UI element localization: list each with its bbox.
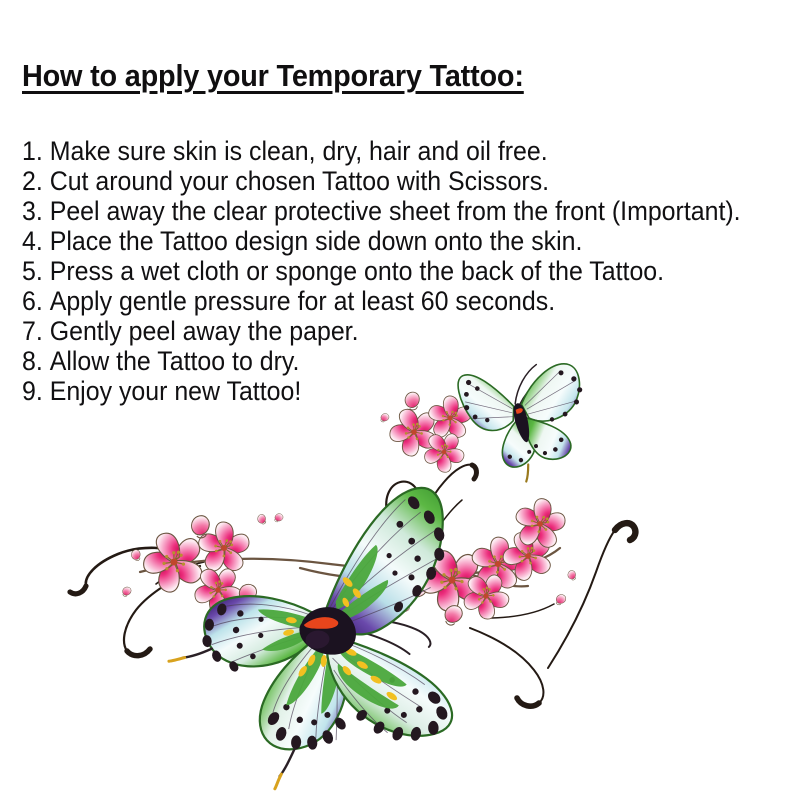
small-butterfly-lower-right-wing: [523, 409, 574, 465]
blossom: [497, 527, 554, 585]
cherry-blossom-branch: [121, 389, 578, 630]
list-item: 1. Make sure skin is clean, dry, hair an…: [22, 136, 746, 166]
tendril-right-tall-hook: [615, 523, 635, 540]
instruction-steps-list: 1. Make sure skin is clean, dry, hair an…: [22, 136, 792, 406]
blossom: [452, 564, 517, 630]
blossom: [135, 526, 206, 600]
blossom: [460, 528, 530, 600]
tendril-center-a: [386, 482, 418, 548]
small-butterfly-body: [511, 402, 533, 444]
blossom-branch-stem: [140, 548, 560, 586]
large-butterfly-upper-right-wing: [315, 486, 455, 638]
flower-bud: [189, 514, 212, 540]
step-number: 9.: [22, 376, 43, 406]
step-number: 1.: [22, 136, 43, 166]
step-number: 5.: [22, 256, 43, 286]
large-butterfly-body: [297, 604, 358, 658]
petal-fragment: [121, 586, 132, 598]
petal-fragment: [554, 593, 567, 607]
tendril-right-tall: [548, 530, 615, 668]
step-text: Allow the Tattoo to dry.: [50, 346, 300, 376]
large-butterfly-lower-left-wing: [252, 635, 359, 790]
tendril-right-mid: [486, 604, 554, 618]
petal-fragment: [256, 513, 269, 526]
list-item: 6. Apply gentle pressure for at least 60…: [22, 286, 746, 316]
list-item: 9. Enjoy your new Tattoo!: [22, 376, 746, 406]
list-item: 8. Allow the Tattoo to dry.: [22, 346, 746, 376]
tendril-left-lower-tip: [127, 649, 150, 656]
step-text: Press a wet cloth or sponge onto the bac…: [50, 256, 664, 286]
list-item: 5. Press a wet cloth or sponge onto the …: [22, 256, 746, 286]
flower-bud: [442, 603, 464, 627]
step-number: 7.: [22, 316, 43, 346]
step-text: Apply gentle pressure for at least 60 se…: [50, 286, 555, 316]
step-text: Gently peel away the paper.: [50, 316, 359, 346]
large-butterfly: [154, 486, 470, 799]
small-butterfly-lower-left-wing: [495, 417, 544, 486]
blossom: [369, 541, 433, 607]
list-item: 3. Peel away the clear protective sheet …: [22, 196, 746, 226]
large-butterfly-upper-left-wing: [163, 589, 321, 680]
list-item: 7. Gently peel away the paper.: [22, 316, 746, 346]
page-title: How to apply your Temporary Tattoo:: [22, 58, 524, 94]
tendril-center-hook: [399, 503, 406, 536]
step-text: Enjoy your new Tattoo!: [50, 376, 302, 406]
tendril-center-c: [420, 500, 462, 560]
list-item: 2. Cut around your chosen Tattoo with Sc…: [22, 166, 746, 196]
tendril-right-lower-tip: [517, 698, 539, 706]
petal-fragment: [273, 512, 285, 524]
blossom: [383, 403, 441, 463]
petal-fragment: [566, 569, 578, 581]
tattoo-instruction-sheet: How to apply your Temporary Tattoo: 1. M…: [0, 0, 800, 800]
large-butterfly-antennae: [335, 608, 431, 661]
step-number: 3.: [22, 196, 43, 226]
step-number: 4.: [22, 226, 43, 256]
step-text: Place the Tattoo design side down onto t…: [50, 226, 583, 256]
tendril-center-b-tip: [472, 465, 476, 479]
flower-bud: [235, 581, 259, 606]
blossom: [410, 541, 488, 621]
step-text: Peel away the clear protective sheet fro…: [50, 196, 741, 226]
decorative-swirls: [70, 465, 635, 707]
step-number: 2.: [22, 166, 43, 196]
tendril-left-lower: [124, 566, 200, 651]
list-item: 4. Place the Tattoo design side down ont…: [22, 226, 746, 256]
tendril-left-upper: [86, 548, 196, 586]
blossom: [414, 425, 470, 482]
petal-fragment: [398, 601, 411, 614]
petal-fragment: [379, 412, 390, 424]
step-text: Make sure skin is clean, dry, hair and o…: [50, 136, 548, 166]
tendril-left-short: [156, 562, 204, 584]
step-number: 8.: [22, 346, 43, 376]
flower-bud: [421, 532, 444, 557]
tendril-right-lower: [470, 628, 543, 703]
tendril-center-b: [412, 465, 472, 556]
step-number: 6.: [22, 286, 43, 316]
petal-fragment: [385, 598, 395, 609]
petal-fragment: [130, 548, 143, 562]
blossom: [503, 488, 572, 558]
blossom: [183, 558, 248, 624]
tendril-left-upper-tip: [70, 586, 86, 594]
large-butterfly-lower-right-wing: [325, 624, 454, 750]
blossom: [189, 514, 254, 581]
step-text: Cut around your chosen Tattoo with Sciss…: [50, 166, 549, 196]
